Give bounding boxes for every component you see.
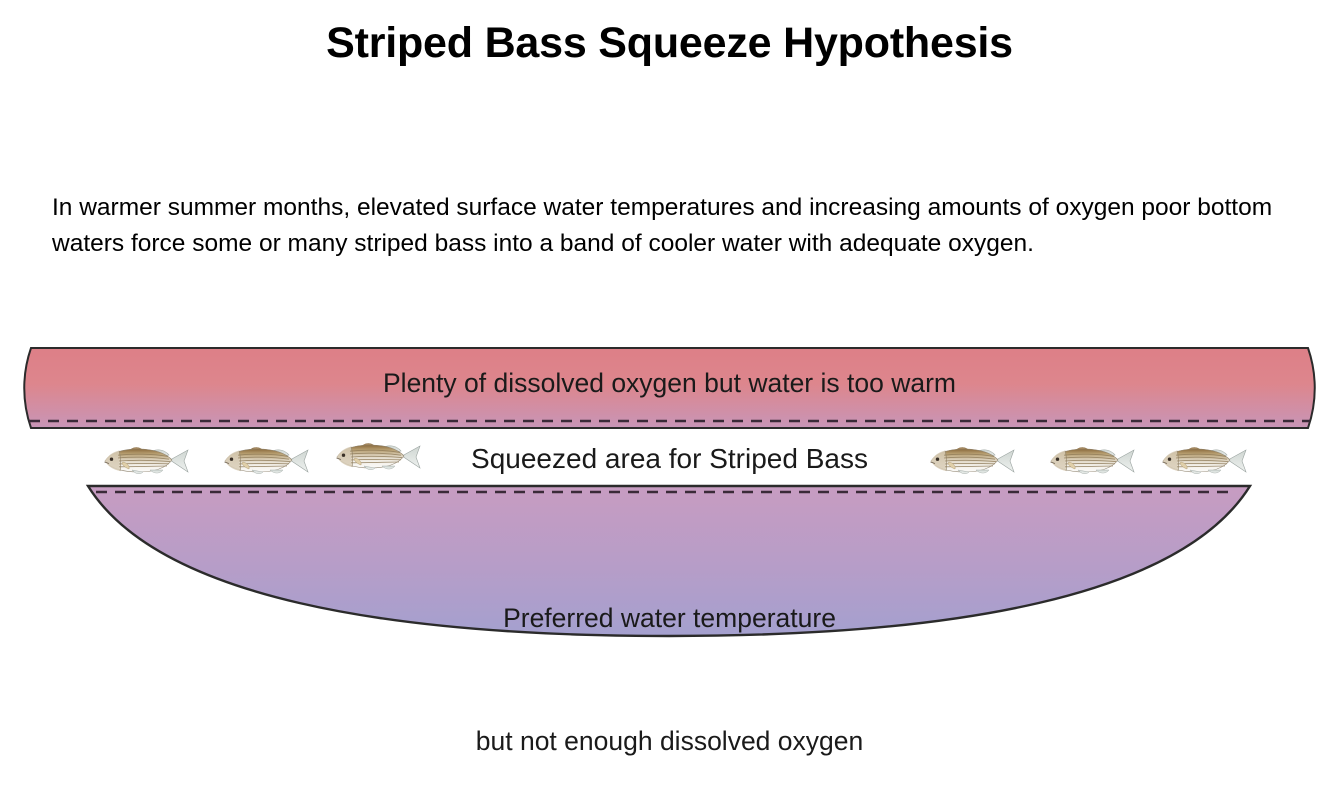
striped-bass-fish-icon <box>96 441 192 481</box>
striped-bass-fish-icon <box>922 441 1018 481</box>
striped-bass-fish-icon <box>216 441 312 481</box>
surface-layer-label: Plenty of dissolved oxygen but water is … <box>0 367 1339 399</box>
middle-layer-label: Squeezed area for Striped Bass <box>0 442 1339 476</box>
striped-bass-fish-icon <box>1042 441 1138 481</box>
bottom-layer-label-line-2: but not enough dissolved oxygen <box>0 721 1339 762</box>
intro-paragraph: In warmer summer months, elevated surfac… <box>52 190 1297 262</box>
bottom-layer-label: Preferred water temperature but not enou… <box>0 516 1339 803</box>
striped-bass-fish-icon <box>328 437 424 477</box>
page-title: Striped Bass Squeeze Hypothesis <box>0 20 1339 67</box>
bottom-layer-label-line-1: Preferred water temperature <box>0 598 1339 639</box>
striped-bass-fish-icon <box>1154 441 1250 481</box>
